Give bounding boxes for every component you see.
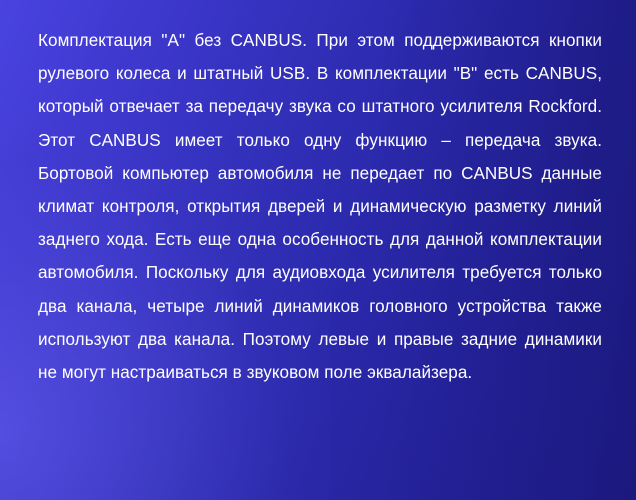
slide-body-text: Комплектация "А" без CANBUS. При этом по… [38,24,602,389]
slide-canvas: Комплектация "А" без CANBUS. При этом по… [0,0,636,500]
